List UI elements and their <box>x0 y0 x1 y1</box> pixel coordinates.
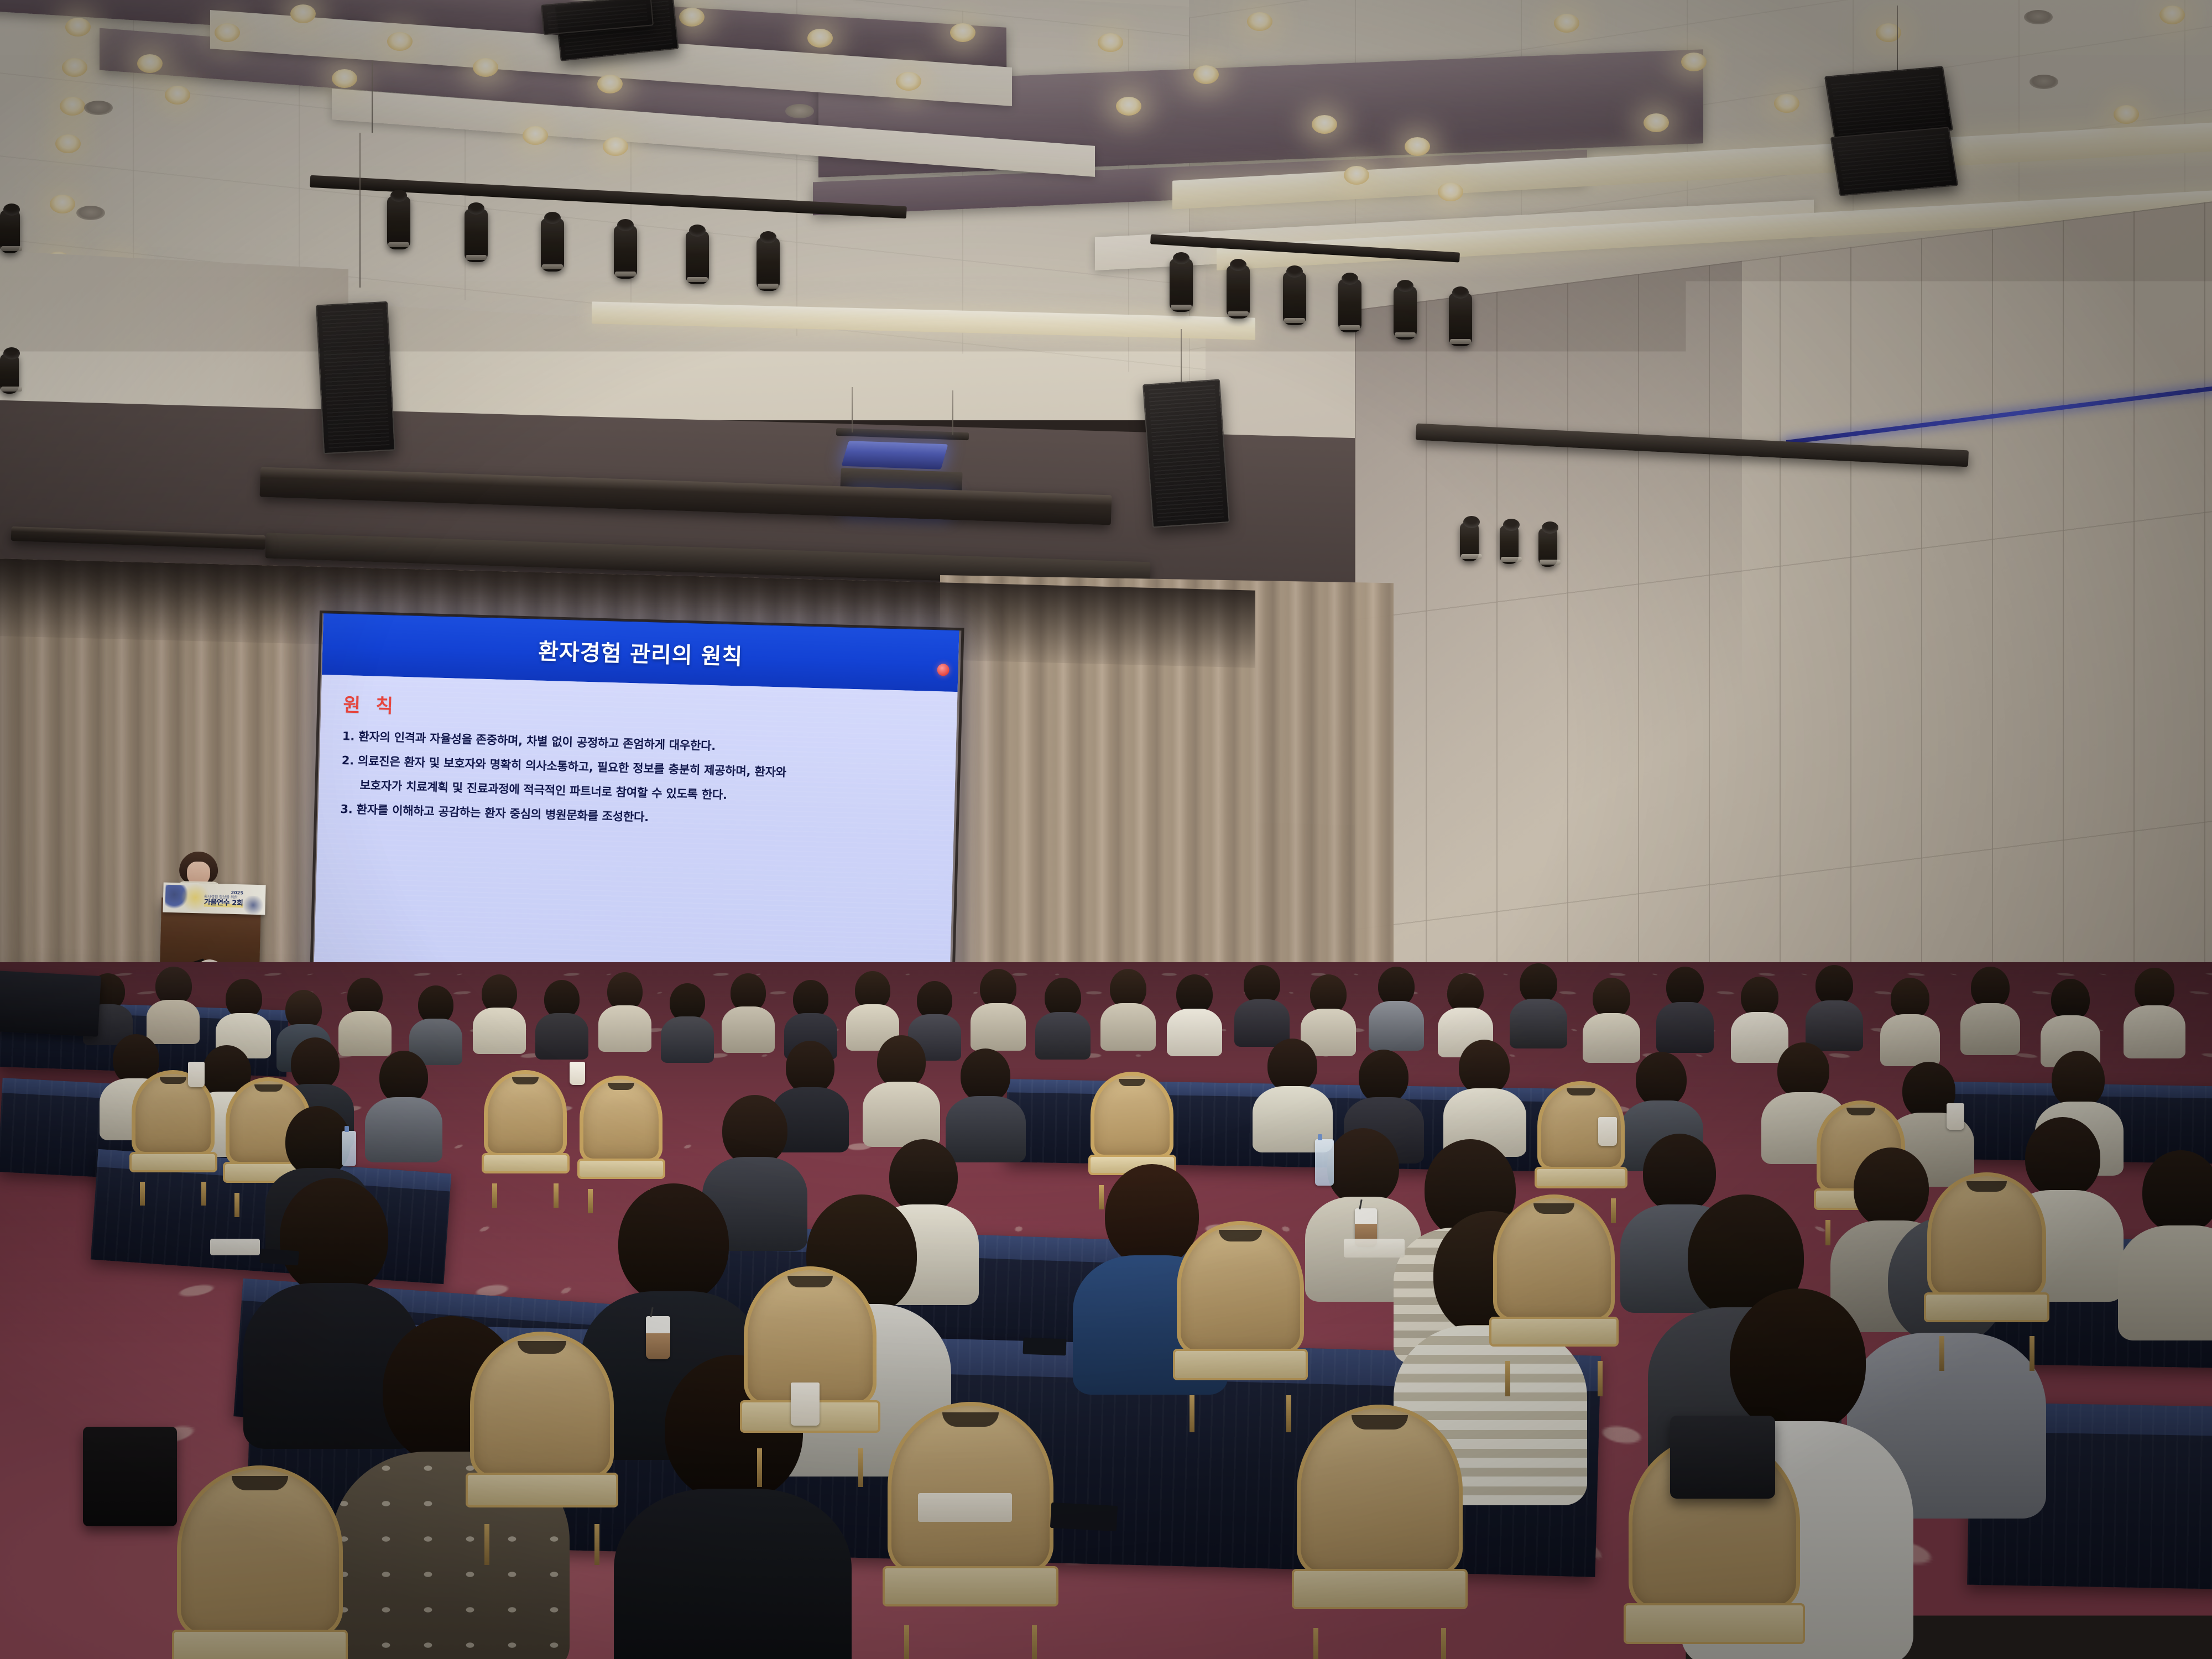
person-head <box>1267 1039 1317 1093</box>
iced-coffee-cup <box>646 1316 670 1359</box>
person-torso <box>2118 1225 2212 1340</box>
banquet-chair[interactable] <box>177 1465 343 1659</box>
floor-monitor-speaker <box>0 971 101 1037</box>
spotlight-icon <box>0 354 19 394</box>
audience-member <box>1583 978 1640 1056</box>
person-torso <box>971 1003 1026 1051</box>
audience-member <box>1369 967 1424 1044</box>
chair-seat <box>577 1159 665 1179</box>
napkin <box>210 1239 260 1255</box>
chair-back <box>580 1076 662 1162</box>
person-torso <box>365 1097 442 1162</box>
person-head <box>722 1095 787 1166</box>
person-head <box>1593 978 1630 1019</box>
speaker-grill <box>1837 133 1952 190</box>
chair-leg <box>1286 1395 1291 1432</box>
speaker-rigging-wire <box>372 61 373 133</box>
person-head <box>1777 1042 1829 1099</box>
audience-member <box>365 1051 442 1156</box>
chair-back <box>1091 1072 1173 1159</box>
projection-screen[interactable]: 환자경험 관리의 원칙 원 칙 1. 환자의 인격과 자율성을 존중하며, 차별… <box>314 613 959 1000</box>
person-head <box>1327 1128 1399 1206</box>
banquet-chair[interactable] <box>1177 1221 1304 1406</box>
spotlight-icon <box>1170 259 1193 312</box>
smartphone[interactable] <box>1050 1503 1118 1531</box>
person-head <box>1666 967 1704 1008</box>
downlight-icon <box>1644 113 1669 132</box>
banquet-chair[interactable] <box>470 1332 614 1536</box>
spotlight-icon <box>387 196 410 249</box>
audience-member <box>661 983 714 1055</box>
speaker-grill <box>547 1 648 29</box>
audience-member <box>147 967 200 1039</box>
spotlight-icon <box>686 231 709 284</box>
audience-member <box>1656 967 1714 1047</box>
downlight-icon <box>2030 75 2058 89</box>
loudspeaker-icon <box>1142 379 1230 528</box>
person-torso <box>722 1006 775 1053</box>
banquet-chair[interactable] <box>1927 1172 2046 1347</box>
chair-leg <box>904 1625 909 1659</box>
chair-leg <box>140 1182 145 1206</box>
person-head <box>2142 1150 2212 1233</box>
person-head <box>280 1178 388 1295</box>
person-torso <box>1656 1002 1714 1053</box>
chair-back <box>1927 1172 2046 1298</box>
person-torso <box>1167 1009 1222 1056</box>
person-torso <box>1880 1014 1940 1066</box>
banquet-chair[interactable] <box>1493 1194 1615 1371</box>
chair-seat <box>1173 1349 1308 1380</box>
person-torso <box>473 1008 526 1054</box>
handbag <box>1670 1416 1775 1499</box>
person-head <box>1891 978 1929 1020</box>
chair-leg <box>554 1183 559 1208</box>
downlight-icon <box>1312 115 1337 134</box>
chair-leg <box>757 1448 762 1487</box>
water-bottle <box>1315 1139 1334 1186</box>
coffee-cup <box>791 1383 820 1426</box>
audience-member <box>598 972 651 1044</box>
chair-leg <box>858 1448 863 1487</box>
person-head <box>786 1041 834 1094</box>
coffee-cup <box>570 1062 585 1085</box>
audience-member <box>409 985 462 1057</box>
downlight-icon <box>1247 12 1272 31</box>
spotlight-icon <box>1227 265 1250 319</box>
downlight-icon <box>332 69 357 88</box>
person-head <box>1730 1288 1866 1433</box>
chair-seat <box>466 1473 618 1507</box>
downlight-icon <box>473 58 498 77</box>
audience-member <box>863 1035 940 1140</box>
handbag <box>83 1427 177 1526</box>
speaker-grill <box>1149 385 1224 522</box>
person-head <box>1520 963 1557 1004</box>
person-torso <box>614 1489 852 1659</box>
downlight-icon <box>950 23 975 42</box>
chair-back <box>484 1070 567 1157</box>
spotlight-icon <box>1283 272 1306 325</box>
chair-leg <box>1598 1361 1603 1396</box>
spotlight-icon <box>1338 279 1361 332</box>
chair-leg <box>492 1183 497 1208</box>
downlight-icon <box>2159 6 2185 24</box>
smartphone[interactable] <box>1023 1338 1067 1356</box>
person-torso <box>1100 1003 1156 1051</box>
audience-member <box>1234 965 1290 1040</box>
podium-main-label: 가을연수 2회 <box>204 899 243 908</box>
person-head <box>2051 979 2090 1021</box>
loudspeaker-icon <box>1830 127 1959 196</box>
audience-member <box>216 979 271 1051</box>
downlight-icon <box>896 72 921 91</box>
downlight-icon <box>137 54 163 73</box>
speaker-rigging-wire <box>1897 6 1898 72</box>
person-head <box>1741 977 1778 1018</box>
slide-section-header: 원 칙 <box>343 690 938 733</box>
audience-member <box>846 971 899 1043</box>
audience-member <box>2041 979 2100 1062</box>
chair-leg <box>1032 1625 1037 1659</box>
person-head <box>2135 968 2174 1011</box>
downlight-icon <box>1681 53 1707 71</box>
audience-member <box>1510 963 1567 1042</box>
projector-icon <box>842 441 948 469</box>
chair-seat <box>1292 1569 1468 1609</box>
person-head <box>285 1106 351 1177</box>
audience-member <box>1438 973 1493 1051</box>
spotlight-icon <box>1460 523 1479 561</box>
water-bottle <box>342 1131 356 1166</box>
downlight-icon <box>55 134 81 153</box>
banquet-chair[interactable] <box>580 1076 662 1196</box>
speaker-rigging-wire <box>1181 329 1182 384</box>
person-head <box>1359 1050 1408 1104</box>
person-head <box>379 1051 428 1104</box>
chair-leg <box>1441 1628 1446 1659</box>
audience-member <box>722 973 775 1045</box>
person-torso <box>1960 1003 2020 1055</box>
chair-seat <box>883 1566 1058 1606</box>
spotlight-icon <box>541 218 564 272</box>
downlight-icon <box>785 104 814 118</box>
spotlight-icon <box>1449 293 1472 346</box>
banner-graphic <box>242 895 264 915</box>
spotlight-icon <box>1394 286 1417 340</box>
chair-leg <box>201 1182 206 1206</box>
downlight-icon <box>603 137 628 156</box>
person-head <box>1636 1052 1687 1107</box>
chair-seat <box>129 1152 217 1172</box>
audience-member <box>1167 974 1222 1050</box>
audience-member <box>971 969 1026 1044</box>
person-torso <box>1369 1001 1424 1051</box>
downlight-icon <box>215 23 240 42</box>
banquet-chair[interactable] <box>132 1070 215 1189</box>
spotlight-icon <box>614 226 637 279</box>
spotlight-icon <box>1500 525 1519 564</box>
audience-member <box>535 980 588 1052</box>
person-torso <box>1035 1012 1091 1060</box>
downlight-icon <box>2024 10 2053 24</box>
audience-member <box>1443 1040 1526 1150</box>
conference-hall-scene: 환자경험 관리의 원칙 원 칙 1. 환자의 인격과 자율성을 존중하며, 차별… <box>0 0 2212 1659</box>
banquet-chair[interactable] <box>744 1266 877 1460</box>
person-torso <box>2124 1005 2185 1058</box>
chair-back <box>1493 1194 1615 1322</box>
spotlight-icon <box>1538 528 1557 567</box>
person-head <box>877 1035 926 1088</box>
slide-title: 환자경험 관리의 원칙 <box>538 634 743 671</box>
chair-leg <box>2030 1336 2034 1371</box>
audience-member <box>1960 967 2020 1050</box>
person-head <box>618 1183 729 1303</box>
podium-banner-text: 2025 환자경험 향상을 위한 가을연수 2회 <box>204 890 243 907</box>
projector-rigging-wire <box>952 390 953 435</box>
chair-leg <box>1505 1361 1510 1396</box>
projector-rigging-wire <box>852 387 853 432</box>
downlight-icon <box>807 29 833 48</box>
audience-member <box>2118 1150 2212 1333</box>
audience-member <box>1100 969 1156 1044</box>
downlight-icon <box>60 97 85 116</box>
downlight-icon <box>290 4 316 23</box>
chair-leg <box>594 1524 599 1565</box>
chair-back <box>470 1332 614 1479</box>
person-torso <box>535 1013 588 1060</box>
downlight-icon <box>1405 137 1430 156</box>
loudspeaker-icon <box>316 301 395 454</box>
audience-member <box>1880 978 1940 1061</box>
chair-seat <box>1489 1317 1618 1347</box>
audience-member <box>1035 978 1091 1053</box>
downlight-icon <box>50 195 75 213</box>
chair-leg <box>1939 1336 1944 1371</box>
chair-back <box>888 1402 1053 1573</box>
person-torso <box>598 1005 651 1052</box>
downlight-icon <box>65 18 91 36</box>
chair-back <box>1297 1405 1463 1576</box>
chair-leg <box>1190 1395 1194 1432</box>
chair-seat <box>1624 1603 1806 1645</box>
coffee-cup <box>1947 1103 1964 1130</box>
napkin <box>918 1493 1012 1522</box>
downlight-icon <box>2114 105 2139 124</box>
downlight-icon <box>1098 33 1123 52</box>
status-badge <box>937 664 950 676</box>
smartphone[interactable] <box>259 1249 299 1266</box>
podium-banner: 2025 환자경험 향상을 위한 가을연수 2회 <box>163 883 265 915</box>
napkin <box>1344 1239 1405 1258</box>
audience-member <box>473 974 526 1046</box>
speaker-grill <box>1830 72 1947 135</box>
downlight-icon <box>1774 94 1799 113</box>
downlight-icon <box>62 58 87 77</box>
chair-leg <box>234 1193 239 1217</box>
banquet-chair[interactable] <box>1297 1405 1463 1642</box>
spotlight-icon <box>0 210 20 253</box>
person-head <box>1971 967 2010 1009</box>
downlight-icon <box>1344 166 1369 185</box>
downlight-icon <box>1193 65 1219 84</box>
downlight-icon <box>679 8 705 27</box>
slide-body: 원 칙 1. 환자의 인격과 자율성을 존중하며, 차별 없이 공정하고 존엄하… <box>314 675 958 1000</box>
chair-seat <box>172 1630 348 1659</box>
person-torso <box>661 1016 714 1063</box>
spotlight-icon <box>465 209 488 262</box>
chair-back <box>177 1465 343 1637</box>
chair-seat <box>482 1153 570 1173</box>
downlight-icon <box>165 86 190 105</box>
chair-leg <box>484 1524 489 1565</box>
person-head <box>1815 965 1853 1006</box>
chair-seat <box>1535 1167 1627 1188</box>
downlight-icon <box>76 206 105 220</box>
person-head <box>961 1048 1010 1103</box>
person-head <box>2052 1051 2105 1108</box>
downlight-icon <box>523 126 548 145</box>
downlight-icon <box>1116 97 1141 116</box>
chair-back <box>1177 1221 1304 1354</box>
spotlight-icon <box>757 238 780 291</box>
downlight-icon <box>597 75 623 93</box>
speaker-grill <box>322 307 390 448</box>
chair-leg <box>1313 1628 1318 1659</box>
audience-member <box>2124 968 2185 1053</box>
person-head <box>1459 1040 1510 1095</box>
downlight-icon <box>1438 182 1463 201</box>
banquet-chair[interactable] <box>484 1070 567 1191</box>
person-torso <box>863 1082 940 1147</box>
downlight-icon <box>1554 14 1579 33</box>
chair-seat <box>1924 1292 2050 1322</box>
audience-member <box>1806 965 1863 1046</box>
downlight-icon <box>84 101 113 115</box>
speaker-rigging-wire <box>359 133 361 288</box>
downlight-icon <box>387 32 413 51</box>
coffee-cup <box>1598 1117 1617 1146</box>
coffee-cup <box>188 1062 205 1087</box>
